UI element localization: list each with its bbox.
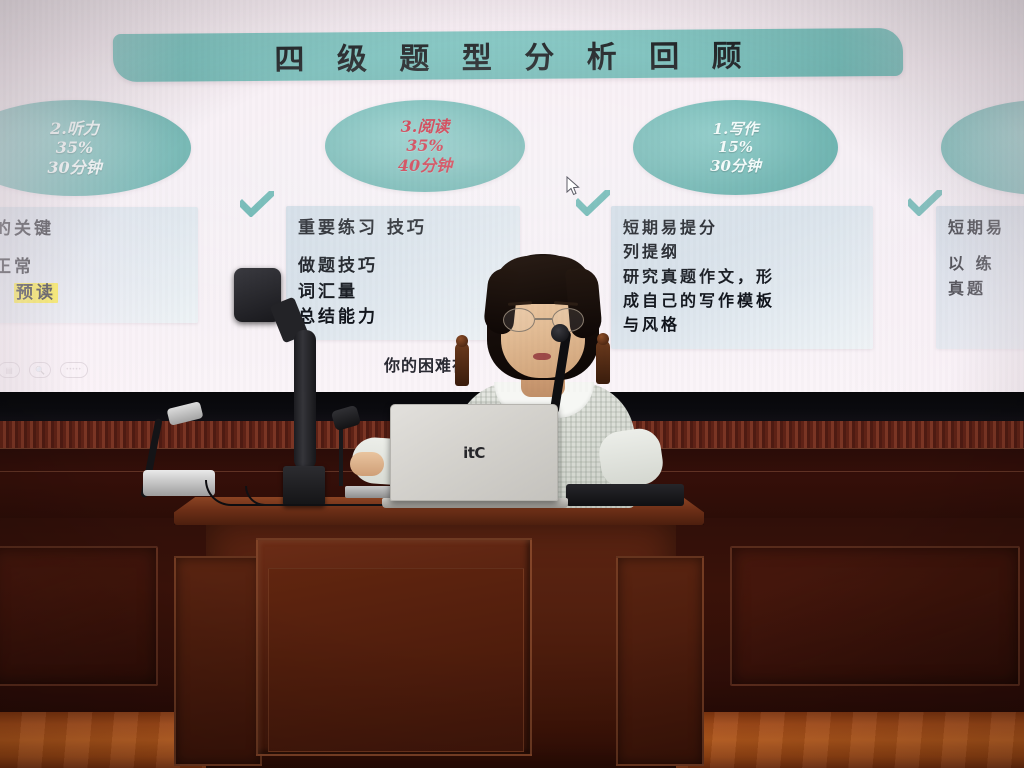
circle-translation: 4. 3: [941, 100, 1024, 195]
circle-writing: 1.写作 15% 30分钟: [633, 100, 838, 195]
laptop-lid[interactable]: itC: [390, 404, 558, 501]
microphone-stem-right: [339, 424, 343, 486]
highlight-term: 预读: [14, 283, 58, 303]
glasses-lens-left: [503, 308, 535, 332]
decorative-post: [596, 340, 610, 384]
laptop-brand-logo: itC: [463, 444, 485, 462]
presenter-mouth: [533, 353, 551, 360]
mouse-cursor: [566, 176, 581, 196]
slide-icon[interactable]: ▤: [0, 362, 20, 378]
slide-toolbar[interactable]: ▤ 🔍 •••••: [0, 362, 88, 378]
podium-front-panel: [256, 538, 532, 756]
podium-side-panel: [174, 556, 262, 766]
decorative-post: [455, 342, 469, 386]
circle-reading: 3.阅读 35% 40分钟: [325, 100, 525, 192]
wall-panel: [730, 546, 1020, 686]
wall-panel: [0, 546, 158, 686]
search-icon[interactable]: 🔍: [29, 362, 51, 378]
presenter-hand: [350, 452, 384, 476]
podium-body: [206, 520, 676, 768]
page-title: 四 级 题 型 分 析 回 顾: [263, 31, 752, 79]
presenter-microphone-head: [551, 324, 569, 342]
desk-equipment-right: [566, 484, 684, 506]
notes-box-translation: 短期易 以 练 真题: [936, 206, 1024, 349]
circle-listening: 2.听力 35% 30分钟: [0, 100, 191, 196]
checkmark-icon: [576, 190, 610, 216]
lecture-hall-scene: 四 级 题 型 分 析 回 顾 2.听力 35% 30分钟 3.阅读 35% 4…: [0, 0, 1024, 768]
podium-side-panel: [616, 556, 704, 766]
checkmark-icon: [240, 191, 274, 217]
notes-box-writing: 短期易提分 列提纲 研究真题作文，形 成自己的写作模板 与风格: [611, 206, 873, 349]
glasses-bridge: [535, 318, 552, 320]
menu-icon[interactable]: •••••: [60, 362, 88, 378]
document-camera-arm: [294, 330, 316, 470]
slide-title-banner: 四 级 题 型 分 析 回 顾: [113, 28, 903, 82]
glasses-icon: [498, 308, 590, 332]
notes-box-listening: 四级的关键 懂很正常 技巧，预读 练习: [0, 207, 198, 323]
podium-inner-molding: [268, 568, 524, 752]
